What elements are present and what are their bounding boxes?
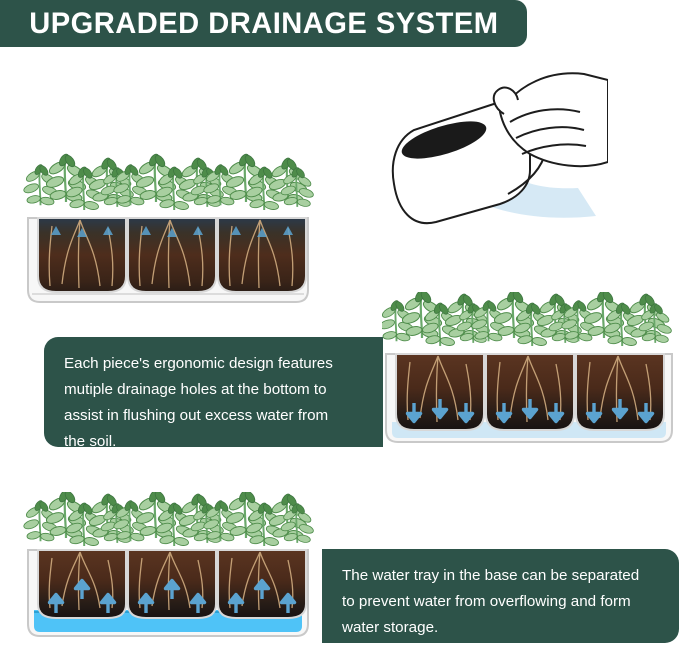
caption-line: The water tray in the base can be separa… [342,563,661,589]
header-banner: UPGRADED DRAINAGE SYSTEM [0,0,527,47]
caption-drainage-holes: Each piece's ergonomic design features m… [44,337,383,447]
infographic-canvas: UPGRADED DRAINAGE SYSTEM [0,0,679,646]
tray-body [28,550,308,636]
seedling-tray-draining [382,292,679,452]
caption-line: to prevent water from overflowing and fo… [342,589,661,615]
caption-line: water storage. [342,615,661,641]
seedling-tray-water-storage [22,492,322,644]
tray-body [386,354,672,442]
caption-line: Each piece's ergonomic design features [64,351,365,377]
page-title: UPGRADED DRAINAGE SYSTEM [29,7,498,41]
foliage-row [23,153,315,211]
foliage-row [23,492,315,547]
caption-water-tray: The water tray in the base can be separa… [322,549,679,643]
tray-body [28,218,308,302]
seedling-tray-watering [22,152,322,322]
caption-line: assist in flushing out excess water from [64,403,365,429]
foliage-row [382,292,673,347]
caption-line: the soil. [64,429,365,455]
caption-line: mutiple drainage holes at the bottom to [64,377,365,403]
hand-pouring-pitcher [278,66,608,241]
